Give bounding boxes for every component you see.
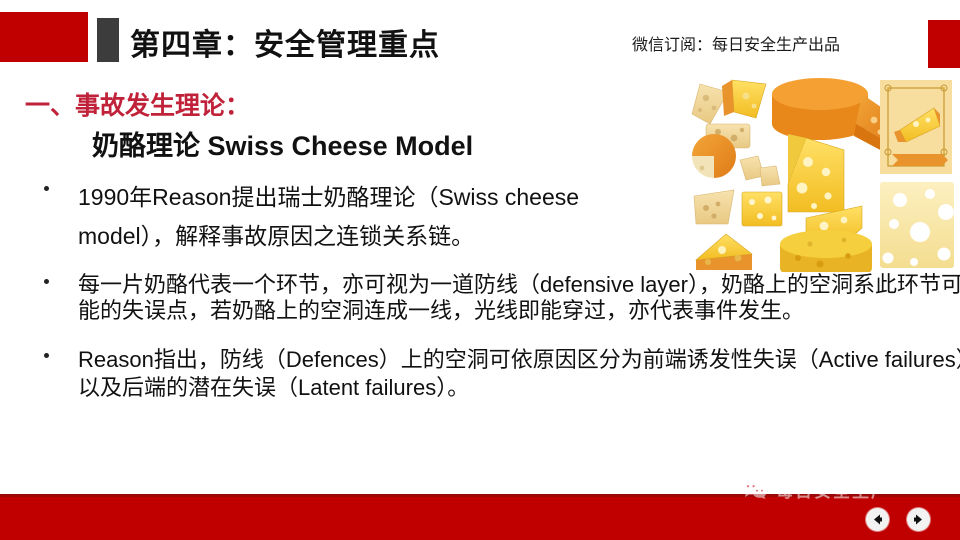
list-item-text: Reason指出，防线（Defences）上的空洞可依原因区分为前端诱发性失误（… [78, 346, 960, 402]
list-item: 1990年Reason提出瑞士奶酪理论（Swiss cheese model），… [30, 178, 638, 256]
bullet-dot-icon [44, 186, 49, 191]
slide-navigation [866, 508, 930, 531]
cheese-collage-image [648, 72, 958, 272]
slide-canvas: 第四章：安全管理重点 微信订阅：每日安全生产出品 一、事故发生理论： 奶酪理论 … [0, 0, 960, 540]
list-item-text: 1990年Reason提出瑞士奶酪理论（Swiss cheese model），… [78, 178, 638, 256]
list-item: Reason指出，防线（Defences）上的空洞可依原因区分为前端诱发性失误（… [30, 346, 960, 402]
arrow-left-icon [871, 513, 884, 526]
list-item-text: 每一片奶酪代表一个环节，亦可视为一道防线（defensive layer），奶酪… [78, 272, 960, 324]
header-red-block-left [0, 12, 88, 62]
bullet-dot-icon [44, 279, 49, 284]
footer-bar [0, 494, 960, 540]
bullet-dot-icon [44, 353, 49, 358]
list-item: 每一片奶酪代表一个环节，亦可视为一道防线（defensive layer），奶酪… [30, 272, 960, 324]
next-slide-button[interactable] [907, 508, 930, 531]
prev-slide-button[interactable] [866, 508, 889, 531]
header-red-block-right [928, 20, 960, 68]
section-heading-red: 一、事故发生理论： [25, 86, 250, 122]
subscribe-note: 微信订阅：每日安全生产出品 [632, 31, 840, 55]
header-gray-block [97, 18, 119, 62]
page-title: 第四章：安全管理重点 [130, 20, 440, 64]
arrow-right-icon [912, 513, 925, 526]
section-heading-black: 奶酪理论 Swiss Cheese Model [92, 124, 473, 163]
